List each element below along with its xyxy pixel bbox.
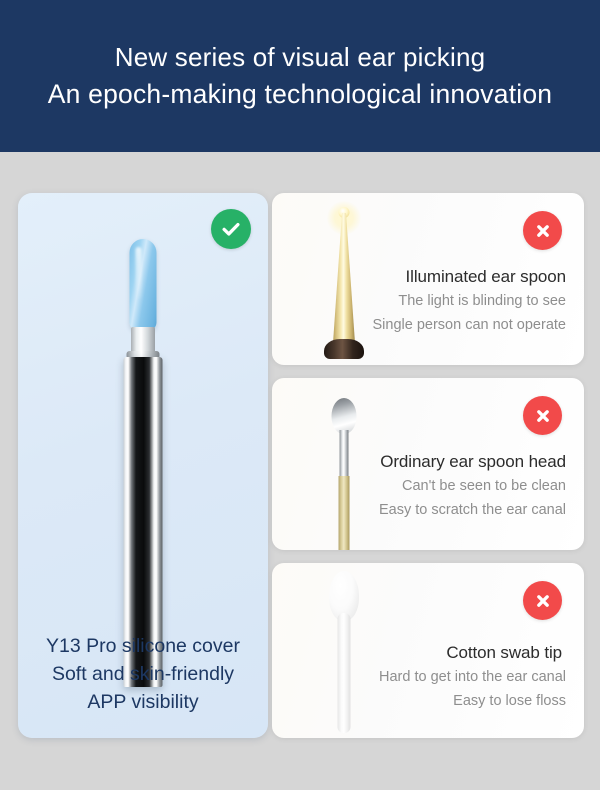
comparison-card-sub1: The light is blinding to see	[360, 290, 566, 312]
hero-product-card[interactable]: Y13 Pro silicone cover Soft and skin-fri…	[18, 193, 268, 738]
comparison-column: Illuminated ear spoon The light is blind…	[272, 193, 584, 738]
comparison-card-text: Ordinary ear spoon head Can't be seen to…	[360, 450, 566, 521]
comparison-card-text: Cotton swab tip Hard to get into the ear…	[360, 641, 566, 712]
comparison-card-ordinary-ear-spoon[interactable]: Ordinary ear spoon head Can't be seen to…	[272, 378, 584, 550]
swab-stick	[338, 613, 351, 733]
comparison-card-sub2: Easy to scratch the ear canal	[360, 499, 566, 521]
comparison-card-sub2: Easy to lose floss	[360, 690, 566, 712]
comparison-card-title: Cotton swab tip	[360, 641, 566, 664]
comparison-card-illuminated-ear-spoon[interactable]: Illuminated ear spoon The light is blind…	[272, 193, 584, 365]
comparison-card-text: Illuminated ear spoon The light is blind…	[360, 265, 566, 336]
x-circle-icon	[523, 211, 562, 250]
header-banner: New series of visual ear picking An epoc…	[0, 0, 600, 152]
dark-handle-base	[324, 339, 364, 359]
spoon-head	[332, 398, 357, 434]
x-circle-icon	[523, 396, 562, 435]
x-circle-icon	[523, 581, 562, 620]
infographic-page: New series of visual ear picking An epoc…	[0, 0, 600, 790]
hero-caption-line2: Soft and skin-friendly	[26, 660, 260, 688]
hero-caption-line1: Y13 Pro silicone cover	[26, 632, 260, 660]
banner-headline-line1: New series of visual ear picking	[115, 39, 486, 76]
blue-silicone-tip	[130, 239, 157, 331]
hero-caption: Y13 Pro silicone cover Soft and skin-fri…	[18, 632, 268, 716]
banner-headline-line2: An epoch-making technological innovation	[48, 76, 552, 113]
comparison-card-sub1: Can't be seen to be clean	[360, 475, 566, 497]
comparison-card-sub1: Hard to get into the ear canal	[360, 666, 566, 688]
hero-caption-line3: APP visibility	[26, 688, 260, 716]
comparison-card-sub2: Single person can not operate	[360, 314, 566, 336]
content-area: Y13 Pro silicone cover Soft and skin-fri…	[0, 152, 600, 790]
spoon-handle	[339, 476, 350, 550]
comparison-card-title: Ordinary ear spoon head	[360, 450, 566, 473]
y13-pro-device-illustration	[113, 239, 173, 694]
device-collar	[131, 327, 155, 353]
spoon-neck	[340, 430, 349, 478]
check-circle-icon	[211, 209, 251, 249]
comparison-card-title: Illuminated ear spoon	[360, 265, 566, 288]
comparison-card-cotton-swab[interactable]: Cotton swab tip Hard to get into the ear…	[272, 563, 584, 738]
